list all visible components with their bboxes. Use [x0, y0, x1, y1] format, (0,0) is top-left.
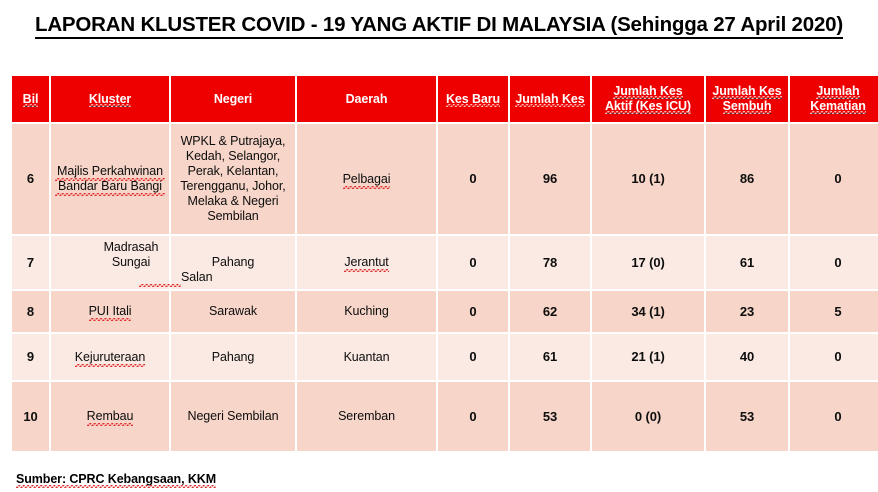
- column-header-daerah: Daerah: [297, 76, 436, 122]
- column-header-jumlah-kes: Jumlah Kes: [510, 76, 590, 122]
- column-header-negeri: Negeri: [171, 76, 295, 122]
- cell-kes-aktif: 0 (0): [592, 382, 704, 451]
- cell-daerah: Jerantut: [297, 236, 436, 289]
- cell-jumlah-kes: 96: [510, 124, 590, 234]
- column-header-kes-sembuh: Jumlah Kes Sembuh: [706, 76, 788, 122]
- cell-kes-sembuh: 53: [706, 382, 788, 451]
- cell-kematian: 0: [790, 382, 878, 451]
- cell-kluster: Majlis Perkahwinan Bandar Baru Bangi: [51, 124, 169, 234]
- cell-kes-baru: 0: [438, 382, 508, 451]
- cell-kes-aktif: 34 (1): [592, 291, 704, 332]
- cell-kes-aktif: 17 (0): [592, 236, 704, 289]
- cluster-table: Bil Kluster Negeri Daerah Kes Baru Jumla…: [10, 74, 878, 453]
- cell-kes-sembuh: 23: [706, 291, 788, 332]
- cell-negeri: Sarawak: [171, 291, 295, 332]
- table-row: 9 Kejuruteraan Pahang Kuantan 0 61 21 (1…: [12, 334, 878, 380]
- cell-daerah: Kuching: [297, 291, 436, 332]
- cell-kematian: 0: [790, 124, 878, 234]
- cell-jumlah-kes: 78: [510, 236, 590, 289]
- cell-kematian: 5: [790, 291, 878, 332]
- column-header-bil: Bil: [12, 76, 49, 122]
- source-note-text: Sumber: CPRC Kebangsaan, KKM: [16, 472, 216, 486]
- table-row: 6 Majlis Perkahwinan Bandar Baru Bangi W…: [12, 124, 878, 234]
- cell-kes-aktif: 10 (1): [592, 124, 704, 234]
- column-header-kes-baru: Kes Baru: [438, 76, 508, 122]
- cell-negeri: Pahang: [171, 334, 295, 380]
- cell-kes-baru: 0: [438, 236, 508, 289]
- cell-daerah: Seremban: [297, 382, 436, 451]
- cell-negeri: Negeri Sembilan: [171, 382, 295, 451]
- cell-jumlah-kes: 53: [510, 382, 590, 451]
- page-title-text: LAPORAN KLUSTER COVID - 19 YANG AKTIF DI…: [35, 13, 843, 39]
- cell-bil: 6: [12, 124, 49, 234]
- table-body: 6 Majlis Perkahwinan Bandar Baru Bangi W…: [12, 124, 878, 451]
- cell-kematian: 0: [790, 334, 878, 380]
- cell-kes-sembuh: 86: [706, 124, 788, 234]
- cell-bil: 8: [12, 291, 49, 332]
- column-header-kes-aktif: Jumlah Kes Aktif (Kes ICU): [592, 76, 704, 122]
- cell-daerah: Kuantan: [297, 334, 436, 380]
- page-title: LAPORAN KLUSTER COVID - 19 YANG AKTIF DI…: [0, 13, 878, 37]
- cell-kes-sembuh: 40: [706, 334, 788, 380]
- table-row: 8 PUI Itali Sarawak Kuching 0 62 34 (1) …: [12, 291, 878, 332]
- cell-negeri: WPKL & Putrajaya, Kedah, Selangor, Perak…: [171, 124, 295, 234]
- table-row: 10 Rembau Negeri Sembilan Seremban 0 53 …: [12, 382, 878, 451]
- cell-kes-aktif: 21 (1): [592, 334, 704, 380]
- cluster-table-wrapper: Bil Kluster Negeri Daerah Kes Baru Jumla…: [10, 74, 868, 453]
- cell-kluster: Rembau: [51, 382, 169, 451]
- column-header-kluster: Kluster: [51, 76, 169, 122]
- cell-kes-sembuh: 61: [706, 236, 788, 289]
- report-page: LAPORAN KLUSTER COVID - 19 YANG AKTIF DI…: [0, 0, 878, 492]
- table-header: Bil Kluster Negeri Daerah Kes Baru Jumla…: [12, 76, 878, 122]
- table-row: 7 Madrasah Sungai Salan Pahang Jerantut …: [12, 236, 878, 289]
- cell-bil: 9: [12, 334, 49, 380]
- column-header-kematian: Jumlah Kematian: [790, 76, 878, 122]
- cell-jumlah-kes: 61: [510, 334, 590, 380]
- cell-jumlah-kes: 62: [510, 291, 590, 332]
- cell-daerah: Pelbagai: [297, 124, 436, 234]
- cell-bil: 7: [12, 236, 49, 289]
- cell-kluster: PUI Itali: [51, 291, 169, 332]
- cell-kes-baru: 0: [438, 291, 508, 332]
- cell-kluster: Madrasah Sungai Salan: [51, 236, 169, 289]
- source-note: Sumber: CPRC Kebangsaan, KKM: [16, 472, 216, 486]
- cell-kes-baru: 0: [438, 334, 508, 380]
- cell-bil: 10: [12, 382, 49, 451]
- table-header-row: Bil Kluster Negeri Daerah Kes Baru Jumla…: [12, 76, 878, 122]
- cell-kematian: 0: [790, 236, 878, 289]
- cell-kes-baru: 0: [438, 124, 508, 234]
- cell-kluster: Kejuruteraan: [51, 334, 169, 380]
